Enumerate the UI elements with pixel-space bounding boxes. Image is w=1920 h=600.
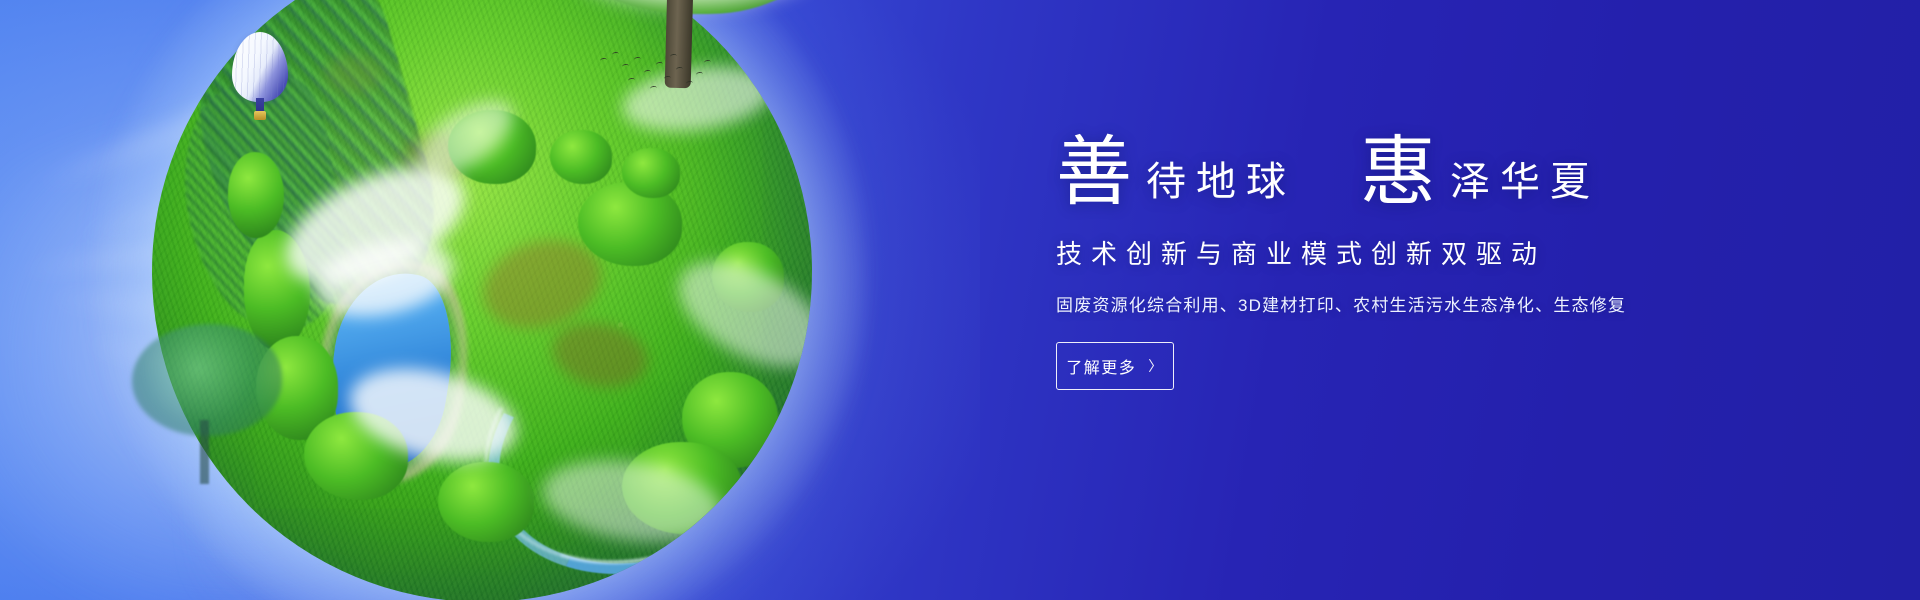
hero-banner: 善 待地球 惠 泽华夏 技术创新与商业模式创新双驱动 固废资源化综合利用、3D建… xyxy=(0,0,1920,600)
bird xyxy=(670,54,678,60)
bird xyxy=(622,64,630,70)
headline-phrase-1: 善 待地球 xyxy=(1056,136,1296,208)
bird xyxy=(664,76,672,82)
page-title: 善 待地球 惠 泽华夏 xyxy=(1056,136,1796,208)
bird xyxy=(676,67,684,73)
shrub xyxy=(622,148,680,198)
learn-more-button[interactable]: 了解更多 〉 xyxy=(1056,342,1174,390)
distant-tree-trunk xyxy=(200,420,209,484)
chevron-right-icon: 〉 xyxy=(1148,356,1164,376)
bird xyxy=(704,60,712,66)
hero-copy: 善 待地球 惠 泽华夏 技术创新与商业模式创新双驱动 固废资源化综合利用、3D建… xyxy=(1056,136,1796,390)
shrub xyxy=(438,462,534,542)
bird xyxy=(686,81,694,87)
headline-rest-1: 待地球 xyxy=(1146,162,1296,208)
bird xyxy=(644,70,652,76)
headline-lead-char-2: 惠 xyxy=(1360,136,1436,208)
bird xyxy=(650,86,658,92)
hot-air-balloon-icon xyxy=(232,32,288,128)
bird xyxy=(634,57,642,63)
bird xyxy=(628,78,636,84)
balloon-seams xyxy=(232,32,288,102)
soil-patch xyxy=(324,54,384,94)
balloon-neck xyxy=(256,98,264,112)
headline-lead-char-1: 善 xyxy=(1056,136,1132,208)
headline-phrase-2: 惠 泽华夏 xyxy=(1360,136,1600,208)
bird xyxy=(612,52,620,58)
hero-tagline: 固废资源化综合利用、3D建材打印、农村生活污水生态净化、生态修复 xyxy=(1056,291,1796,316)
hero-subtitle: 技术创新与商业模式创新双驱动 xyxy=(1056,234,1796,271)
shrub xyxy=(228,152,284,238)
headline-rest-2: 泽华夏 xyxy=(1450,162,1600,208)
learn-more-label: 了解更多 xyxy=(1066,354,1136,378)
bird xyxy=(600,58,608,64)
bird xyxy=(656,62,664,68)
distant-tree-icon xyxy=(132,324,282,484)
bird xyxy=(696,72,704,78)
shrub xyxy=(550,130,612,184)
balloon-basket xyxy=(254,111,266,120)
birds-icon xyxy=(598,48,718,102)
